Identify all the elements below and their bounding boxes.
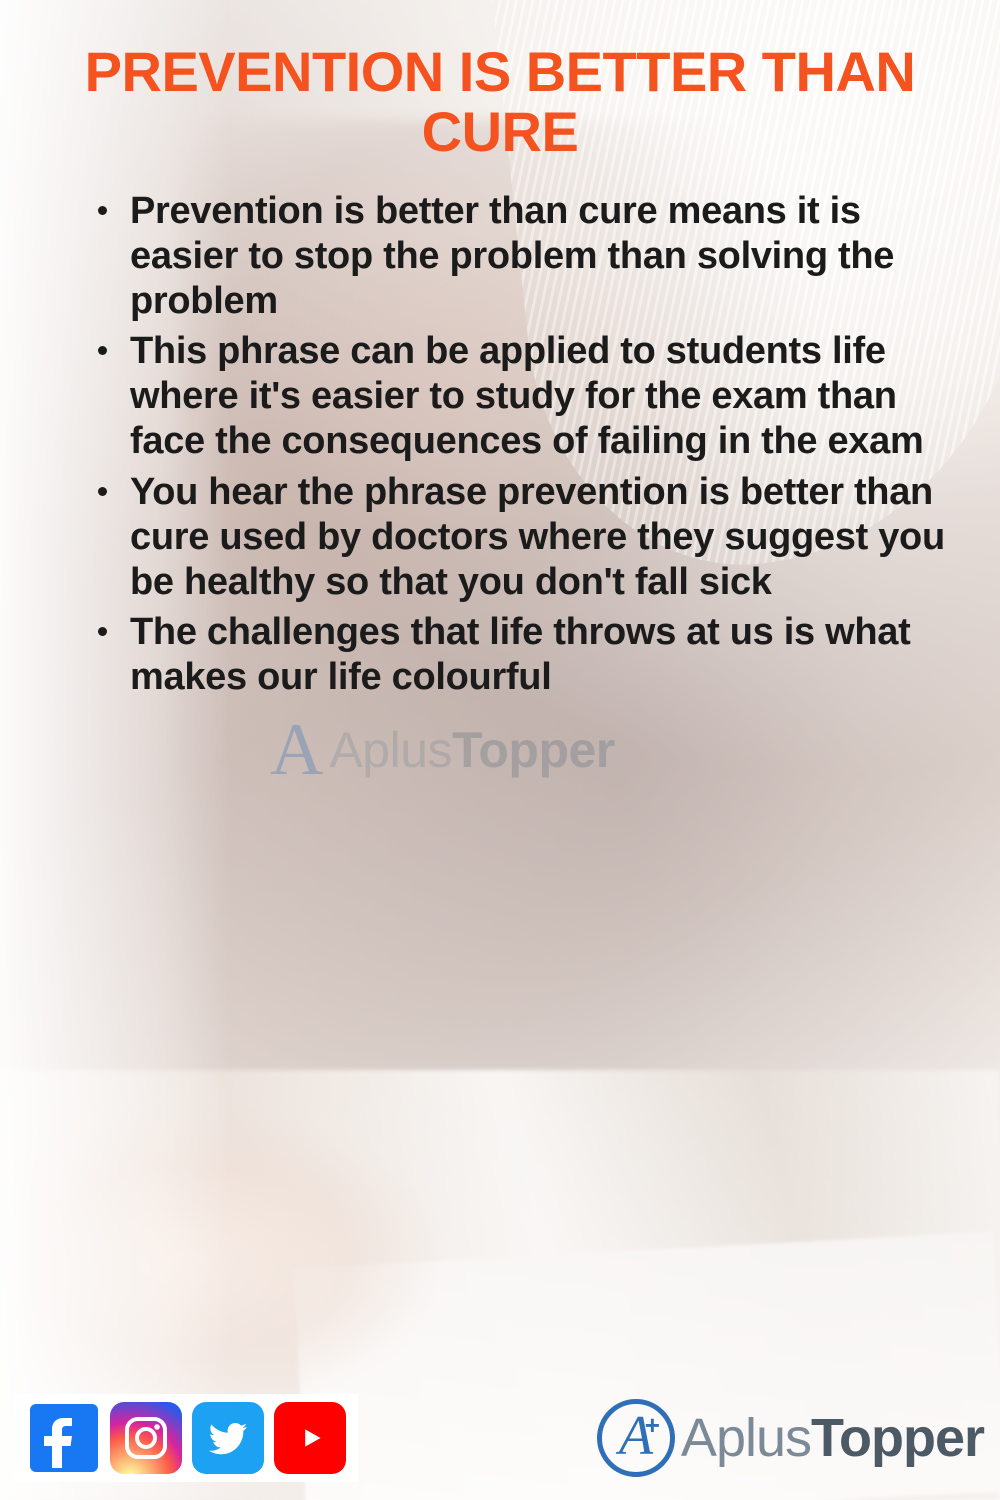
list-item: You hear the phrase prevention is better… (90, 470, 960, 604)
brand-logo[interactable]: A + AplusTopper (597, 1399, 984, 1477)
brand-mark-plus: + (645, 1412, 660, 1438)
twitter-icon[interactable] (192, 1402, 264, 1474)
footer-bar: A + AplusTopper (0, 1375, 1000, 1500)
page-title: PREVENTION IS BETTER THAN CURE (70, 42, 930, 163)
instagram-icon[interactable] (110, 1402, 182, 1474)
list-item: Prevention is better than cure means it … (90, 189, 960, 323)
facebook-icon[interactable] (28, 1402, 100, 1474)
brand-mark-icon: A + (597, 1399, 675, 1477)
poster-content: PREVENTION IS BETTER THAN CURE Preventio… (0, 0, 1000, 1500)
youtube-icon[interactable] (274, 1402, 346, 1474)
social-links (14, 1394, 358, 1482)
brand-name: AplusTopper (681, 1407, 984, 1469)
list-item: This phrase can be applied to students l… (90, 329, 960, 463)
list-item: The challenges that life throws at us is… (90, 610, 960, 700)
bullet-list: Prevention is better than cure means it … (90, 189, 960, 700)
